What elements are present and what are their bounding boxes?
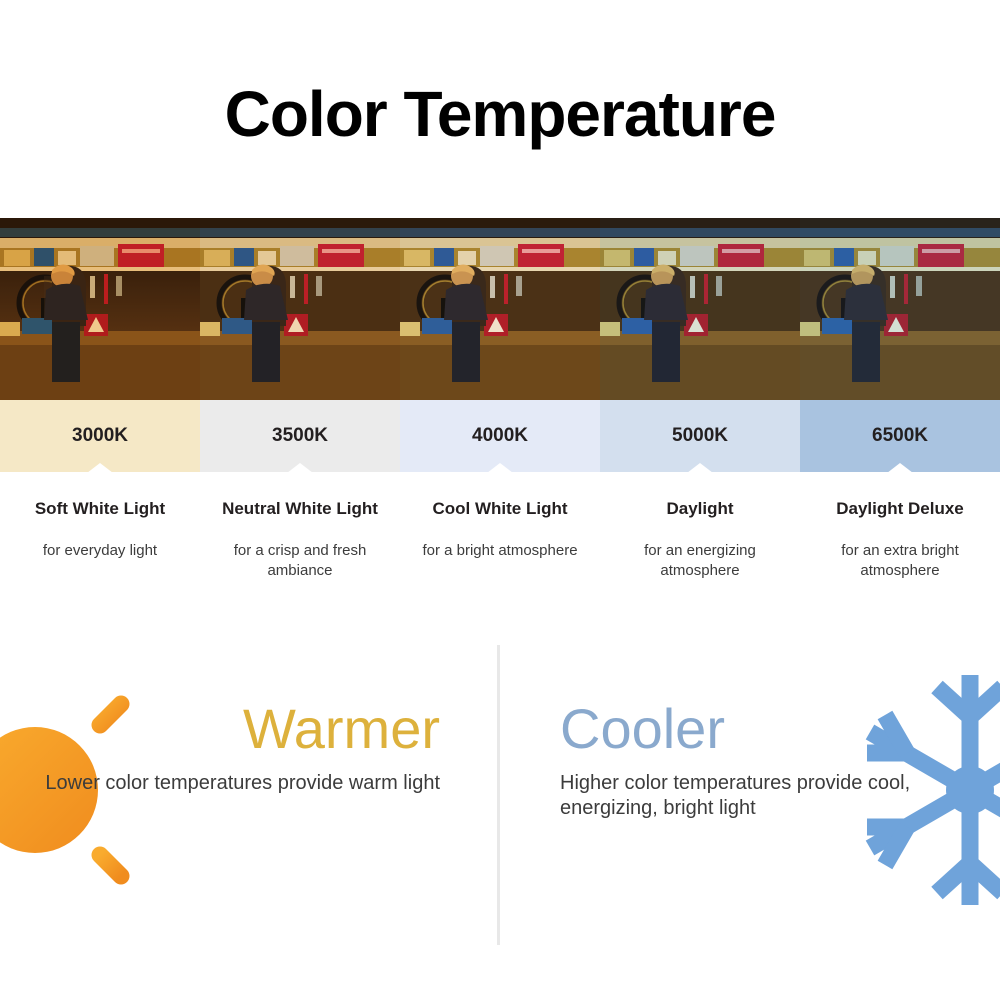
swatch-notch <box>287 463 313 473</box>
description-column-6500k: Daylight Deluxe for an extra bright atmo… <box>800 498 1000 580</box>
workshop-photo <box>0 218 200 400</box>
swatch-label: 3000K <box>72 425 128 447</box>
workshop-photo <box>600 218 800 400</box>
light-name: Soft White Light <box>14 498 186 519</box>
photo-cell-4000k <box>400 218 600 400</box>
workshop-photo <box>800 218 1000 400</box>
light-name: Cool White Light <box>414 498 586 519</box>
photo-cell-3000k <box>0 218 200 400</box>
cooler-heading: Cooler <box>560 700 960 759</box>
workshop-photo <box>400 218 600 400</box>
light-description: for an extra bright atmosphere <box>814 541 986 580</box>
swatch-notch <box>687 463 713 473</box>
swatch-5000k: 5000K <box>600 400 800 472</box>
description-row: Soft White Light for everyday light Neut… <box>0 498 1000 580</box>
description-column-4000k: Cool White Light for a bright atmosphere <box>400 498 600 580</box>
light-description: for an energizing atmosphere <box>614 541 786 580</box>
vertical-divider <box>497 645 500 945</box>
swatch-notch <box>87 463 113 473</box>
warmer-heading: Warmer <box>0 700 440 759</box>
page-title: Color Temperature <box>0 82 1000 146</box>
swatch-label: 6500K <box>872 425 928 447</box>
swatch-3500k: 3500K <box>200 400 400 472</box>
swatch-label: 4000K <box>472 425 528 447</box>
description-column-3500k: Neutral White Light for a crisp and fres… <box>200 498 400 580</box>
swatch-notch <box>487 463 513 473</box>
swatch-6500k: 6500K <box>800 400 1000 472</box>
temperature-swatch-band: 3000K 3500K 4000K 5000K 6500K <box>0 400 1000 472</box>
light-name: Neutral White Light <box>214 498 386 519</box>
swatch-3000k: 3000K <box>0 400 200 472</box>
cooler-blurb: Higher color temperatures provide cool, … <box>560 771 960 821</box>
swatch-label: 3500K <box>272 425 328 447</box>
warmer-section: Warmer Lower color temperatures provide … <box>0 700 440 796</box>
warmer-blurb: Lower color temperatures provide warm li… <box>0 771 440 796</box>
swatch-4000k: 4000K <box>400 400 600 472</box>
light-name: Daylight <box>614 498 786 519</box>
light-description: for a bright atmosphere <box>414 541 586 561</box>
swatch-notch <box>887 463 913 473</box>
photo-comparison-strip <box>0 218 1000 400</box>
light-description: for everyday light <box>14 541 186 561</box>
photo-cell-3500k <box>200 218 400 400</box>
light-description: for a crisp and fresh ambiance <box>214 541 386 580</box>
photo-cell-5000k <box>600 218 800 400</box>
light-name: Daylight Deluxe <box>814 498 986 519</box>
cooler-section: Cooler Higher color temperatures provide… <box>560 700 960 821</box>
description-column-5000k: Daylight for an energizing atmosphere <box>600 498 800 580</box>
swatch-label: 5000K <box>672 425 728 447</box>
description-column-3000k: Soft White Light for everyday light <box>0 498 200 580</box>
workshop-photo <box>200 218 400 400</box>
photo-cell-6500k <box>800 218 1000 400</box>
